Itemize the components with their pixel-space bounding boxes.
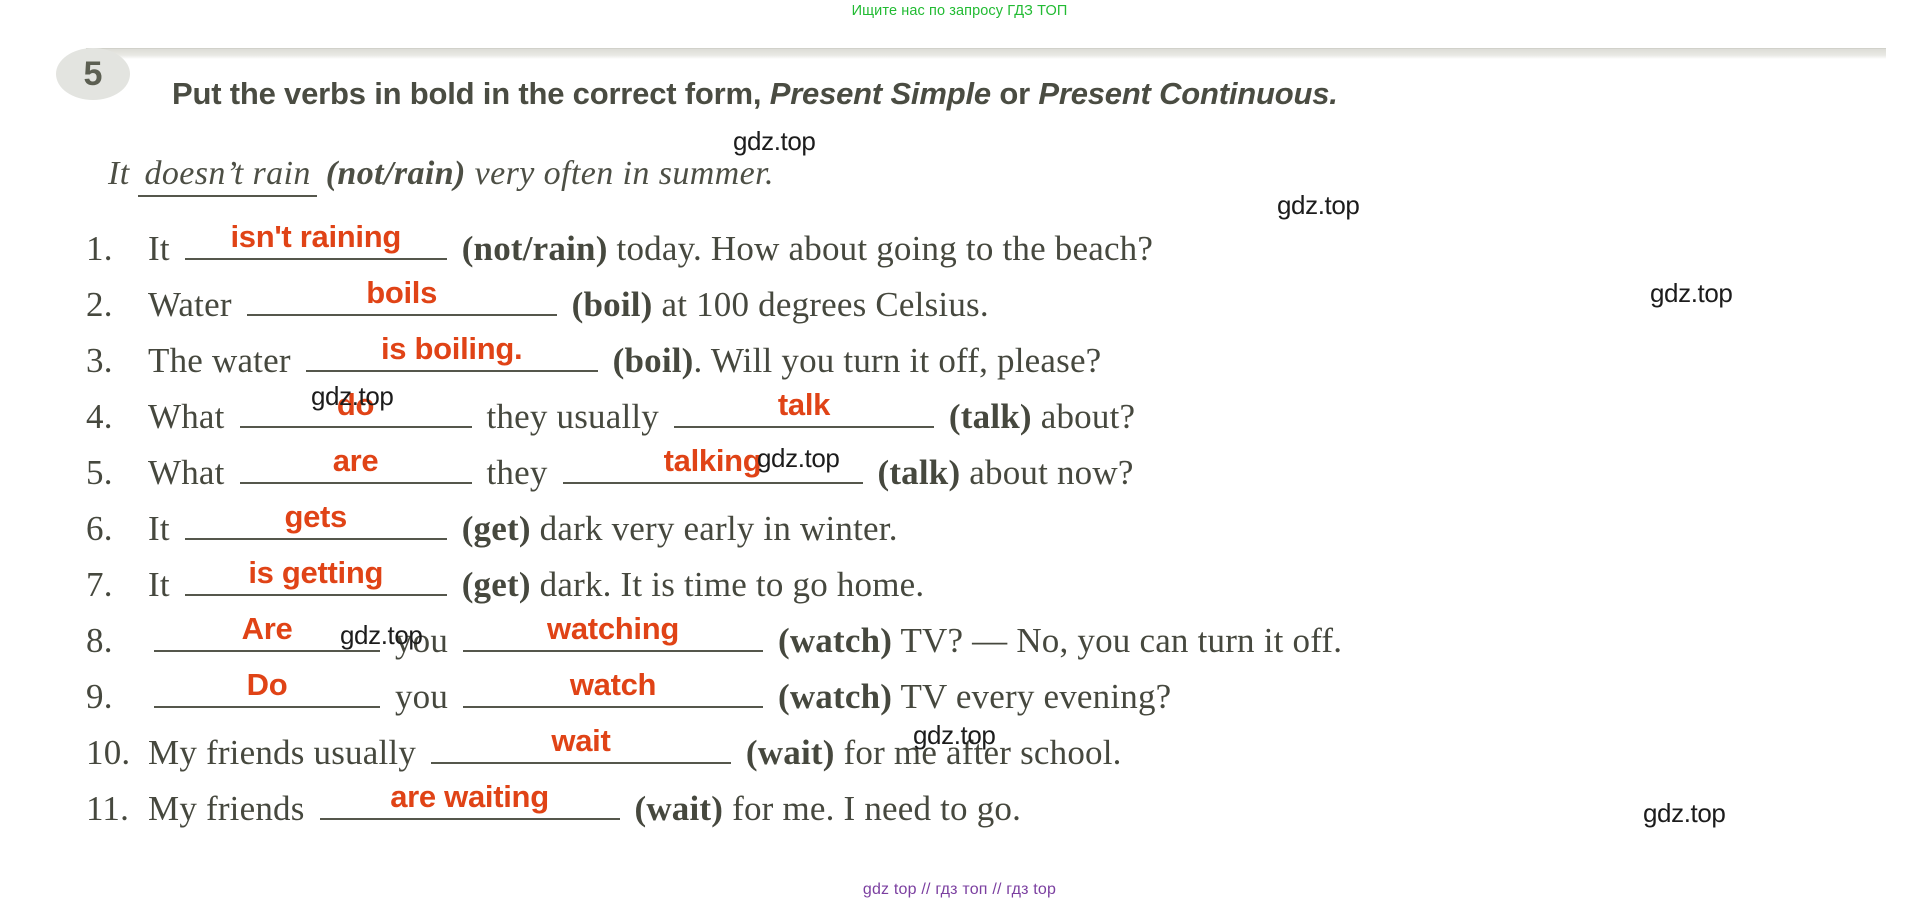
item-text-before: Water bbox=[148, 285, 232, 324]
answer-text: wait bbox=[551, 721, 610, 761]
item-text-after: about? bbox=[1032, 397, 1135, 436]
site-banner-text: Ищите нас по запросу ГДЗ ТОП bbox=[852, 3, 1068, 19]
site-footer-text: gdz top // гдз топ // гдз top bbox=[863, 881, 1056, 898]
example-answer: doesn’t rain bbox=[138, 155, 316, 197]
answer-blank[interactable]: is boiling. bbox=[306, 330, 598, 372]
answer-text: Do bbox=[247, 665, 288, 705]
answer-blank[interactable]: are waiting bbox=[320, 778, 620, 820]
item-number: 3. bbox=[86, 333, 148, 389]
answer-blank[interactable]: Are bbox=[154, 610, 380, 652]
answer-blank[interactable]: do bbox=[240, 386, 472, 428]
exercise-item: 7.It is getting (get) dark. It is time t… bbox=[86, 554, 1906, 610]
answer-text-second: watch bbox=[570, 665, 656, 705]
answer-blank[interactable]: is getting bbox=[185, 554, 447, 596]
item-text-middle: you bbox=[395, 677, 448, 716]
item-text-before: It bbox=[148, 509, 170, 548]
item-text-middle: they usually bbox=[487, 397, 660, 436]
example-tail: very often in summer. bbox=[475, 155, 774, 192]
example-lead: It bbox=[108, 155, 130, 192]
item-text-after: today. How about going to the beach? bbox=[608, 229, 1154, 268]
answer-text: is getting bbox=[248, 553, 383, 593]
item-verb-cue: (talk) bbox=[877, 453, 960, 492]
example-sentence: It doesn’t rain (not/rain) very often in… bbox=[108, 155, 774, 197]
item-text-before: My friends usually bbox=[148, 733, 416, 772]
item-number: 5. bbox=[86, 445, 148, 501]
item-text-before: What bbox=[148, 453, 225, 492]
item-verb-cue: (get) bbox=[462, 565, 531, 604]
answer-text: isn't raining bbox=[230, 217, 401, 257]
item-text-after: TV every evening? bbox=[892, 677, 1171, 716]
item-text-after: for me after school. bbox=[835, 733, 1122, 772]
answer-text-second: talk bbox=[778, 385, 830, 425]
item-number: 2. bbox=[86, 277, 148, 333]
answer-blank-second[interactable]: talking bbox=[563, 442, 863, 484]
item-text-after: at 100 degrees Celsius. bbox=[653, 285, 989, 324]
exercise-title-part2: or bbox=[999, 76, 1030, 111]
item-text-before: It bbox=[148, 565, 170, 604]
item-number: 8. bbox=[86, 613, 148, 669]
item-verb-cue: (talk) bbox=[949, 397, 1032, 436]
exercise-item: 5.What are they talking (talk) about now… bbox=[86, 442, 1906, 498]
item-text-after: . Will you turn it off, please? bbox=[694, 341, 1102, 380]
exercise-item: 10.My friends usually wait (wait) for me… bbox=[86, 722, 1906, 778]
answer-text-second: talking bbox=[664, 441, 762, 481]
answer-blank[interactable]: boils bbox=[247, 274, 557, 316]
exercise-item: 2.Water boils (boil) at 100 degrees Cels… bbox=[86, 274, 1906, 330]
item-number: 11. bbox=[86, 781, 148, 837]
answer-text: gets bbox=[284, 497, 347, 537]
exercise-title-part1: Put the verbs in bold in the correct for… bbox=[172, 76, 761, 111]
item-text-before: The water bbox=[148, 341, 291, 380]
item-text-before: What bbox=[148, 397, 225, 436]
item-text-before: It bbox=[148, 229, 170, 268]
answer-text: is boiling. bbox=[381, 329, 522, 369]
item-text-after: for me. I need to go. bbox=[723, 789, 1021, 828]
item-text-middle: they bbox=[487, 453, 548, 492]
item-text-after: dark very early in winter. bbox=[531, 509, 898, 548]
exercise-title-italic1: Present Simple bbox=[770, 76, 991, 111]
exercise-title: Put the verbs in bold in the correct for… bbox=[172, 76, 1338, 112]
watermark: gdz.top bbox=[733, 126, 816, 157]
answer-blank[interactable]: gets bbox=[185, 498, 447, 540]
exercise-item: 6.It gets (get) dark very early in winte… bbox=[86, 498, 1906, 554]
answer-blank-second[interactable]: talk bbox=[674, 386, 934, 428]
item-verb-cue: (wait) bbox=[634, 789, 723, 828]
item-text-before: My friends bbox=[148, 789, 305, 828]
exercise-title-italic2: Present Continuous. bbox=[1038, 76, 1337, 111]
exercise-item: 11.My friends are waiting (wait) for me.… bbox=[86, 778, 1906, 834]
item-number: 4. bbox=[86, 389, 148, 445]
exercise-item: 9.Do you watch (watch) TV every evening? bbox=[86, 666, 1906, 722]
exercise-item: 1.It isn't raining (not/rain) today. How… bbox=[86, 218, 1906, 274]
exercise-item: 3.The water is boiling. (boil). Will you… bbox=[86, 330, 1906, 386]
item-verb-cue: (wait) bbox=[746, 733, 835, 772]
item-verb-cue: (not/rain) bbox=[462, 229, 608, 268]
answer-blank[interactable]: isn't raining bbox=[185, 218, 447, 260]
item-text-after: dark. It is time to go home. bbox=[531, 565, 925, 604]
answer-text-second: watching bbox=[547, 609, 679, 649]
exercise-number-badge: 5 bbox=[56, 48, 130, 100]
exercise-item: 4.What do they usually talk (talk) about… bbox=[86, 386, 1906, 442]
answer-blank[interactable]: are bbox=[240, 442, 472, 484]
site-banner: Ищите нас по запросу ГДЗ ТОП bbox=[0, 0, 1919, 22]
answer-text: do bbox=[337, 385, 374, 425]
answer-text: are waiting bbox=[390, 777, 549, 817]
exercise-item-list: 1.It isn't raining (not/rain) today. How… bbox=[86, 218, 1906, 834]
answer-blank-second[interactable]: watch bbox=[463, 666, 763, 708]
item-text-middle: you bbox=[395, 621, 448, 660]
exercise-number: 5 bbox=[84, 55, 103, 94]
answer-blank[interactable]: wait bbox=[431, 722, 731, 764]
item-verb-cue: (watch) bbox=[778, 677, 892, 716]
item-verb-cue: (get) bbox=[462, 509, 531, 548]
answer-blank-second[interactable]: watching bbox=[463, 610, 763, 652]
answer-text: Are bbox=[242, 609, 293, 649]
answer-blank[interactable]: Do bbox=[154, 666, 380, 708]
item-number: 6. bbox=[86, 501, 148, 557]
example-cue: (not/rain) bbox=[326, 155, 466, 192]
exercise-item: 8.Are you watching (watch) TV? — No, you… bbox=[86, 610, 1906, 666]
item-verb-cue: (boil) bbox=[613, 341, 694, 380]
item-number: 7. bbox=[86, 557, 148, 613]
site-footer: gdz top // гдз топ // гдз top bbox=[0, 881, 1919, 899]
answer-text: boils bbox=[366, 273, 437, 313]
item-number: 9. bbox=[86, 669, 148, 725]
header-rule bbox=[86, 48, 1886, 59]
watermark: gdz.top bbox=[1277, 190, 1360, 221]
item-verb-cue: (watch) bbox=[778, 621, 892, 660]
item-text-after: TV? — No, you can turn it off. bbox=[892, 621, 1342, 660]
item-text-after: about now? bbox=[960, 453, 1133, 492]
item-verb-cue: (boil) bbox=[572, 285, 653, 324]
item-number: 10. bbox=[86, 725, 148, 781]
item-number: 1. bbox=[86, 221, 148, 277]
answer-text: are bbox=[333, 441, 379, 481]
